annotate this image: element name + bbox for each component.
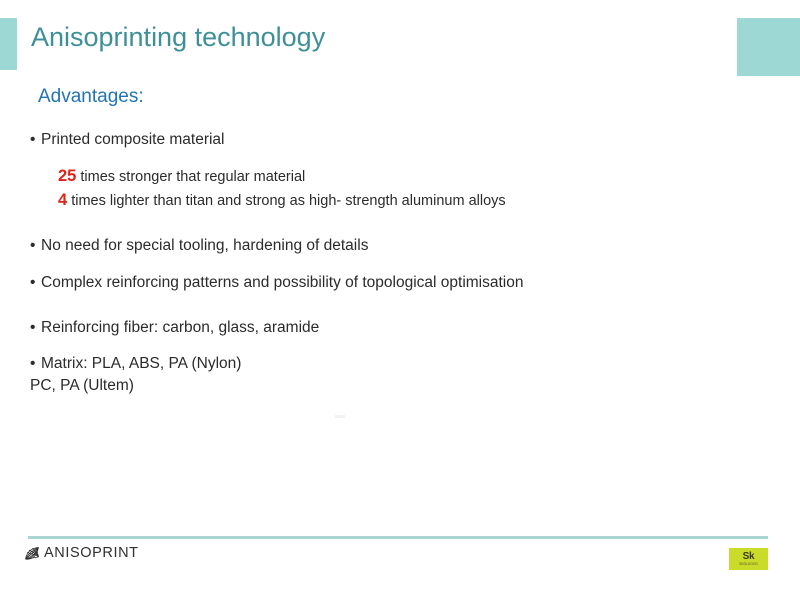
anisoprint-logo: ANISOPRINT (24, 545, 139, 561)
accent-block-right (737, 18, 800, 76)
skolkovo-badge: Sk SKOLKOVO (729, 548, 768, 570)
anisoprint-mark-icon (24, 546, 41, 561)
list-item-label: Matrix: PLA, ABS, PA (Nylon) (41, 355, 241, 372)
continuation-text: PC, PA (Ultem) (30, 377, 760, 395)
stat-number: 25 (58, 167, 76, 185)
skolkovo-badge-label: Sk (743, 552, 755, 562)
accent-bar-left (0, 18, 17, 70)
sub-list-item: 25 times stronger that regular material (30, 167, 760, 186)
bullet-icon: • (30, 238, 41, 254)
sub-list-item-label: times stronger that regular material (80, 169, 305, 185)
bullet-icon: • (30, 275, 41, 291)
list-item-label: Complex reinforcing patterns and possibi… (41, 274, 523, 291)
skolkovo-badge-sublabel: SKOLKOVO (739, 563, 758, 566)
list-item: •Complex reinforcing patterns and possib… (30, 275, 760, 291)
bullet-icon: • (30, 356, 41, 372)
bullet-icon: • (30, 320, 41, 336)
slide-canvas: Anisoprinting technology Advantages: •Pr… (0, 0, 800, 596)
bullet-icon: • (30, 132, 41, 148)
list-item-label: No need for special tooling, hardening o… (41, 237, 368, 254)
sub-list-item-label: times lighter than titan and strong as h… (71, 193, 505, 209)
page-title: Anisoprinting technology (31, 22, 325, 53)
stray-artifact (335, 415, 345, 418)
footer-divider (28, 536, 768, 539)
sub-list-item: 4 times lighter than titan and strong as… (30, 191, 760, 210)
section-heading-advantages: Advantages: (38, 86, 144, 108)
list-item-label: Reinforcing fiber: carbon, glass, aramid… (41, 319, 319, 336)
anisoprint-wordmark: ANISOPRINT (44, 545, 139, 561)
stat-number: 4 (58, 191, 67, 209)
list-item: •Printed composite material (30, 132, 760, 148)
list-item: •Matrix: PLA, ABS, PA (Nylon) (30, 356, 760, 372)
list-item-label: Printed composite material (41, 131, 225, 148)
list-item: •No need for special tooling, hardening … (30, 238, 760, 254)
list-item: •Reinforcing fiber: carbon, glass, arami… (30, 320, 760, 336)
slide-body: •Printed composite material 25 times str… (30, 132, 760, 395)
